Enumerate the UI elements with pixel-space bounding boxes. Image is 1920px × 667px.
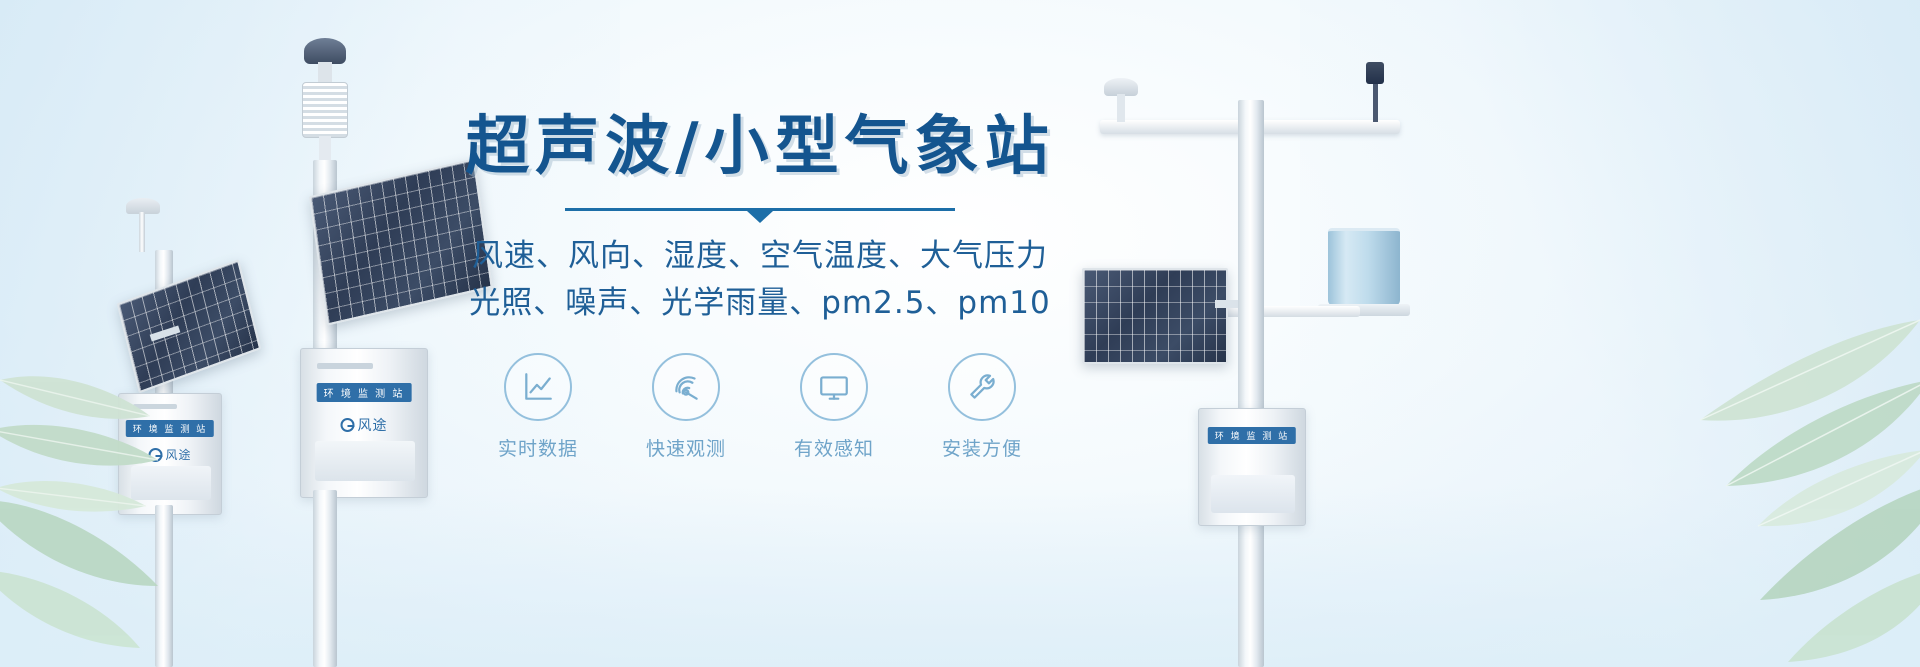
subtitle-line-2: 光照、噪声、光学雨量、pm2.5、pm10 xyxy=(440,280,1080,327)
sensor-neck xyxy=(318,62,332,84)
feature-label-effective-sensing: 有效感知 xyxy=(779,434,889,461)
feature-item-realtime-data[interactable]: 实时数据 xyxy=(483,353,593,461)
feature-list: 实时数据 快速观测 xyxy=(440,353,1080,461)
feature-item-effective-sensing[interactable]: 有效感知 xyxy=(779,353,889,461)
wind-vane-right xyxy=(1366,62,1384,84)
solar-panel-right xyxy=(1082,268,1228,364)
feature-item-easy-install[interactable]: 安装方便 xyxy=(927,353,1037,461)
vent-slot xyxy=(317,363,373,369)
radar-sensor-icon xyxy=(652,353,720,421)
feature-label-realtime-data: 实时数据 xyxy=(483,434,593,461)
ultrasonic-sensor-stem xyxy=(1117,94,1125,122)
mounting-pole-right xyxy=(1238,100,1264,667)
banner-subtitle: 风速、风向、湿度、空气温度、大气压力 光照、噪声、光学雨量、pm2.5、pm10 xyxy=(440,233,1080,327)
enclosure-cabinet-right: 环 境 监 测 站 xyxy=(1198,408,1306,526)
radiation-shield-left-tall xyxy=(302,82,348,138)
cabinet-label-left-tall: 环 境 监 测 站 xyxy=(317,383,412,402)
brand-logo-left-tall: 风途 xyxy=(341,415,388,435)
cabinet-lower-door xyxy=(315,441,415,481)
sensor-mast-left-small xyxy=(139,212,145,252)
cabinet-label-right: 环 境 监 测 站 xyxy=(1208,427,1296,444)
feature-label-easy-install: 安装方便 xyxy=(927,434,1037,461)
brand-mark-icon xyxy=(341,418,355,432)
palm-leaf-bottom-right xyxy=(1710,470,1920,667)
monitor-icon xyxy=(800,353,868,421)
line-chart-icon xyxy=(504,353,572,421)
wrench-icon xyxy=(948,353,1016,421)
ultrasonic-wind-sensor-icon xyxy=(304,38,346,64)
product-banner: 环 境 监 测 站 风途 环 境 监 测 站 风途 xyxy=(0,0,1920,667)
feature-label-fast-observation: 快速观测 xyxy=(631,434,741,461)
banner-title: 超声波/小型气象站 xyxy=(440,110,1080,186)
enclosure-cabinet-left-tall: 环 境 监 测 站 风途 xyxy=(300,348,428,498)
palm-leaf-bottom-left xyxy=(0,470,180,667)
banner-text-block: 超声波/小型气象站 风速、风向、湿度、空气温度、大气压力 光照、噪声、光学雨量、… xyxy=(440,110,1080,461)
wind-vane-stem xyxy=(1373,84,1378,122)
subtitle-line-1: 风速、风向、湿度、空气温度、大气压力 xyxy=(440,233,1080,280)
feature-item-fast-observation[interactable]: 快速观测 xyxy=(631,353,741,461)
title-divider xyxy=(565,208,955,211)
cabinet-lower-door xyxy=(1211,475,1295,513)
rain-gauge-right xyxy=(1328,228,1400,306)
base-pole-left-tall xyxy=(313,490,337,667)
